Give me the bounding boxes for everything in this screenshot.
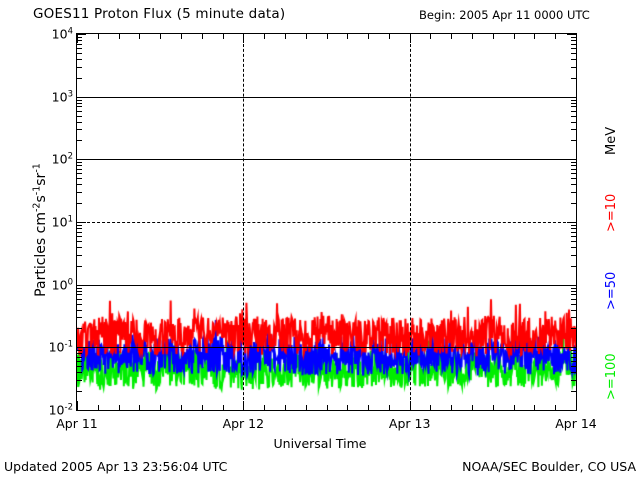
agency-credit: NOAA/SEC Boulder, CO USA <box>462 459 636 474</box>
y-minor-tick-right <box>571 288 576 289</box>
y-minor-tick-right <box>571 103 576 104</box>
y-tick-label--1: 10-1 <box>49 340 73 355</box>
x-minor-tick-top <box>514 34 515 39</box>
y-major-tick-3 <box>77 97 86 98</box>
y-minor-tick-right <box>571 366 576 367</box>
y-minor-tick-right <box>571 361 576 362</box>
x-minor-tick-top <box>264 34 265 39</box>
y-minor-tick <box>77 162 82 163</box>
gridline-v-day-2 <box>410 34 411 410</box>
x-major-tick-top-1 <box>243 34 244 43</box>
y-minor-tick <box>77 59 82 60</box>
x-minor-tick-top <box>451 34 452 39</box>
y-minor-tick-right <box>571 48 576 49</box>
y-tick-exponent: -1 <box>65 340 73 350</box>
y-minor-tick <box>77 165 82 166</box>
y-minor-tick <box>77 111 82 112</box>
y-minor-tick-right <box>571 162 576 163</box>
y-minor-tick-right <box>571 129 576 130</box>
x-minor-tick <box>389 405 390 410</box>
legend-item-ge10: >=10 <box>604 194 619 232</box>
x-major-tick-1 <box>243 401 244 410</box>
plot-clip <box>77 34 576 410</box>
y-minor-tick-right <box>571 111 576 112</box>
y-minor-tick <box>77 116 82 117</box>
y-minor-tick-right <box>571 372 576 373</box>
x-minor-tick-top <box>472 34 473 39</box>
y-minor-tick <box>77 140 82 141</box>
y-minor-tick-right <box>571 165 576 166</box>
x-minor-tick <box>285 405 286 410</box>
y-tick-exponent: 1 <box>68 214 73 224</box>
x-minor-tick-top <box>139 34 140 39</box>
y-tick-exponent: -2 <box>65 402 73 412</box>
y-major-tick-right-1 <box>567 222 576 223</box>
chart-title: GOES11 Proton Flux (5 minute data) <box>33 6 285 22</box>
x-minor-tick-top <box>98 34 99 39</box>
y-minor-tick <box>77 380 82 381</box>
y-tick-label-0: 100 <box>52 277 73 292</box>
y-major-tick-right--1 <box>567 347 576 348</box>
x-minor-tick <box>202 405 203 410</box>
y-minor-tick <box>77 291 82 292</box>
x-tick-label-apr-14: Apr 14 <box>555 416 597 431</box>
x-major-tick-2 <box>410 401 411 410</box>
y-minor-tick <box>77 288 82 289</box>
legend-item-ge50: >=50 <box>604 272 619 310</box>
y-minor-tick <box>77 361 82 362</box>
y-minor-tick-right <box>571 232 576 233</box>
y-minor-tick-right <box>571 59 576 60</box>
y-minor-tick <box>77 67 82 68</box>
x-minor-tick <box>264 405 265 410</box>
x-major-tick-top-2 <box>410 34 411 43</box>
y-minor-tick <box>77 310 82 311</box>
gridline-h-1000 <box>77 97 576 98</box>
y-minor-tick <box>77 317 82 318</box>
y-minor-tick <box>77 122 82 123</box>
y-minor-tick <box>77 106 82 107</box>
x-minor-tick-top <box>555 34 556 39</box>
y-minor-tick-right <box>571 67 576 68</box>
y-major-tick-right-3 <box>567 97 576 98</box>
y-major-tick--1 <box>77 347 86 348</box>
x-minor-tick-top <box>160 34 161 39</box>
y-minor-tick-right <box>571 116 576 117</box>
x-tick-label-apr-13: Apr 13 <box>389 416 431 431</box>
y-minor-tick <box>77 78 82 79</box>
y-minor-tick-right <box>571 173 576 174</box>
y-tick-label-4: 104 <box>52 27 73 42</box>
y-major-tick-right-0 <box>567 285 576 286</box>
x-minor-tick <box>181 405 182 410</box>
x-minor-tick <box>139 405 140 410</box>
plot-area <box>76 33 577 411</box>
legend-item-ge100: >=100 <box>604 353 619 400</box>
y-minor-tick-right <box>571 178 576 179</box>
gridline-h-dashed-10 <box>77 222 576 223</box>
y-major-tick-4 <box>77 34 86 35</box>
y-major-tick-2 <box>77 159 86 160</box>
y-major-tick-1 <box>77 222 86 223</box>
y-minor-tick-right <box>571 241 576 242</box>
x-minor-tick-top <box>306 34 307 39</box>
y-minor-tick <box>77 366 82 367</box>
y-minor-tick-right <box>571 236 576 237</box>
x-minor-tick-top <box>202 34 203 39</box>
y-minor-tick <box>77 192 82 193</box>
y-minor-tick-right <box>571 192 576 193</box>
y-tick-label-1: 101 <box>52 215 73 230</box>
x-minor-tick <box>223 405 224 410</box>
y-minor-tick <box>77 129 82 130</box>
x-minor-tick <box>368 405 369 410</box>
y-minor-tick-right <box>571 53 576 54</box>
y-minor-tick-right <box>571 304 576 305</box>
y-minor-tick-right <box>571 247 576 248</box>
x-minor-tick <box>347 405 348 410</box>
y-minor-tick <box>77 294 82 295</box>
y-minor-tick <box>77 203 82 204</box>
y-axis-tick-labels: 10410310210110010-110-2 <box>0 33 73 411</box>
y-minor-tick <box>77 353 82 354</box>
y-minor-tick <box>77 225 82 226</box>
y-minor-tick <box>77 266 82 267</box>
y-minor-tick-right <box>571 44 576 45</box>
x-minor-tick <box>555 405 556 410</box>
y-minor-tick <box>77 169 82 170</box>
y-minor-tick <box>77 100 82 101</box>
y-major-tick-0 <box>77 285 86 286</box>
x-minor-tick-top <box>430 34 431 39</box>
x-minor-tick-top <box>119 34 120 39</box>
x-minor-tick <box>472 405 473 410</box>
y-minor-tick-right <box>571 357 576 358</box>
y-minor-tick <box>77 299 82 300</box>
y-minor-tick <box>77 328 82 329</box>
y-minor-tick-right <box>571 169 576 170</box>
y-minor-tick <box>77 236 82 237</box>
x-major-tick-0 <box>77 401 78 410</box>
y-minor-tick <box>77 232 82 233</box>
y-minor-tick-right <box>571 380 576 381</box>
x-minor-tick <box>327 405 328 410</box>
x-minor-tick <box>430 405 431 410</box>
y-tick-exponent: 3 <box>68 89 73 99</box>
x-minor-tick-top <box>327 34 328 39</box>
updated-timestamp: Updated 2005 Apr 13 23:56:04 UTC <box>4 459 227 474</box>
x-minor-tick <box>451 405 452 410</box>
x-axis-title: Universal Time <box>0 436 640 451</box>
y-minor-tick-right <box>571 328 576 329</box>
y-minor-tick-right <box>571 310 576 311</box>
y-major-tick-right-2 <box>567 159 576 160</box>
y-major-tick-right-4 <box>567 34 576 35</box>
x-minor-tick <box>514 405 515 410</box>
x-minor-tick-top <box>368 34 369 39</box>
y-minor-tick <box>77 184 82 185</box>
y-tick-mantissa: 10 <box>52 215 68 230</box>
y-minor-tick <box>77 247 82 248</box>
y-minor-tick <box>77 304 82 305</box>
y-minor-tick-right <box>571 203 576 204</box>
x-tick-label-apr-11: Apr 11 <box>56 416 98 431</box>
y-minor-tick-right <box>571 122 576 123</box>
y-tick-mantissa: 10 <box>52 277 68 292</box>
x-minor-tick <box>493 405 494 410</box>
y-minor-tick <box>77 241 82 242</box>
y-minor-tick-right <box>571 299 576 300</box>
y-minor-tick <box>77 372 82 373</box>
x-minor-tick <box>119 405 120 410</box>
y-tick-mantissa: 10 <box>49 340 65 355</box>
x-minor-tick <box>98 405 99 410</box>
y-tick-label-3: 103 <box>52 89 73 104</box>
y-minor-tick-right <box>571 106 576 107</box>
x-minor-tick <box>306 405 307 410</box>
y-minor-tick-right <box>571 266 576 267</box>
x-axis-tick-labels: Apr 11Apr 12Apr 13Apr 14 <box>0 416 640 434</box>
y-minor-tick <box>77 178 82 179</box>
y-minor-tick <box>77 173 82 174</box>
x-tick-label-apr-12: Apr 12 <box>223 416 265 431</box>
y-minor-tick <box>77 103 82 104</box>
y-minor-tick-right <box>571 228 576 229</box>
legend-unit-mev: MeV <box>604 127 619 155</box>
y-tick-mantissa: 10 <box>52 152 68 167</box>
y-minor-tick-right <box>571 391 576 392</box>
x-major-tick-top-0 <box>77 34 78 43</box>
y-minor-tick <box>77 391 82 392</box>
y-minor-tick <box>77 44 82 45</box>
y-minor-tick-right <box>571 350 576 351</box>
x-minor-tick-top <box>347 34 348 39</box>
x-minor-tick-top <box>223 34 224 39</box>
y-minor-tick-right <box>571 291 576 292</box>
x-minor-tick <box>160 405 161 410</box>
y-minor-tick <box>77 255 82 256</box>
begin-time-label: Begin: 2005 Apr 11 0000 UTC <box>419 8 590 22</box>
y-minor-tick-right <box>571 100 576 101</box>
y-minor-tick-right <box>571 140 576 141</box>
y-tick-label-2: 102 <box>52 152 73 167</box>
y-minor-tick-right <box>571 353 576 354</box>
y-minor-tick <box>77 350 82 351</box>
y-minor-tick-right <box>571 294 576 295</box>
y-tick-exponent: 2 <box>68 152 73 162</box>
y-minor-tick-right <box>571 255 576 256</box>
y-minor-tick-right <box>571 225 576 226</box>
y-tick-mantissa: 10 <box>52 27 68 42</box>
y-minor-tick <box>77 357 82 358</box>
gridline-v-day-1 <box>243 34 244 410</box>
x-minor-tick <box>534 405 535 410</box>
y-minor-tick <box>77 228 82 229</box>
y-minor-tick <box>77 48 82 49</box>
y-minor-tick-right <box>571 317 576 318</box>
gridline-h-0.1 <box>77 347 576 348</box>
x-minor-tick-top <box>285 34 286 39</box>
x-minor-tick-top <box>181 34 182 39</box>
y-minor-tick <box>77 53 82 54</box>
y-minor-tick-right <box>571 184 576 185</box>
gridline-h-1 <box>77 285 576 286</box>
y-tick-mantissa: 10 <box>52 89 68 104</box>
x-minor-tick-top <box>389 34 390 39</box>
y-minor-tick-right <box>571 78 576 79</box>
gridline-h-100 <box>77 159 576 160</box>
x-minor-tick-top <box>493 34 494 39</box>
y-tick-exponent: 0 <box>68 277 73 287</box>
y-tick-exponent: 4 <box>68 26 73 36</box>
x-minor-tick-top <box>534 34 535 39</box>
